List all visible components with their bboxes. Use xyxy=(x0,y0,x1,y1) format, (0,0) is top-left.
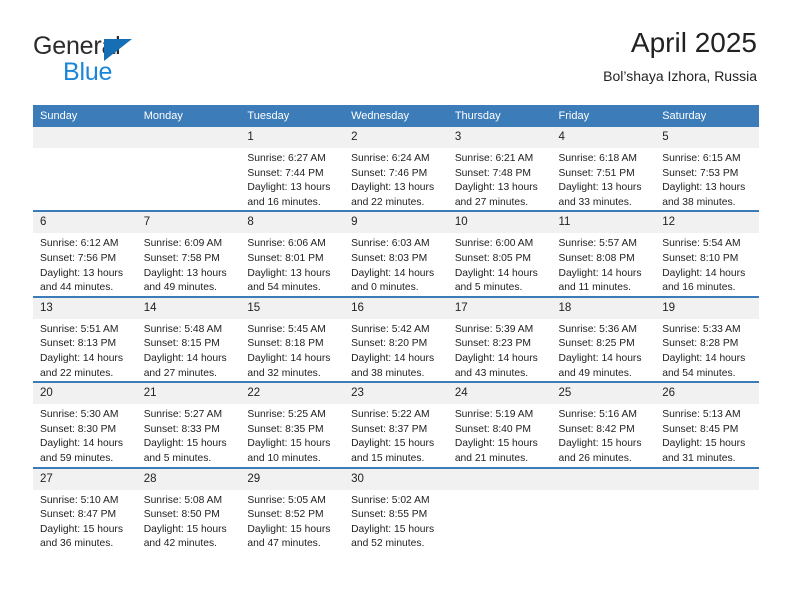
sunrise-text: Sunrise: 6:06 AM xyxy=(247,237,338,252)
sunrise-text: Sunrise: 5:51 AM xyxy=(40,323,131,338)
sunset-text: Sunset: 8:03 PM xyxy=(351,252,442,267)
day-number: 13 xyxy=(33,298,137,319)
calendar-day-cell[interactable]: 14Sunrise: 5:48 AMSunset: 8:15 PMDayligh… xyxy=(137,297,241,382)
day-details: Sunrise: 6:12 AMSunset: 7:56 PMDaylight:… xyxy=(33,233,137,295)
weekday-header-row: Sunday Monday Tuesday Wednesday Thursday… xyxy=(33,105,759,127)
sunset-text: Sunset: 8:20 PM xyxy=(351,337,442,352)
calendar-grid: Sunday Monday Tuesday Wednesday Thursday… xyxy=(33,105,759,552)
day-details: Sunrise: 6:15 AMSunset: 7:53 PMDaylight:… xyxy=(655,148,759,210)
weekday-header-saturday: Saturday xyxy=(655,105,759,127)
page-header: General Blue April 2025 Bol’shaya Izhora… xyxy=(0,0,792,100)
day-details: Sunrise: 5:19 AMSunset: 8:40 PMDaylight:… xyxy=(448,404,552,466)
daylight-text: Daylight: 14 hours and 32 minutes. xyxy=(247,352,338,381)
daylight-text: Daylight: 14 hours and 27 minutes. xyxy=(144,352,235,381)
day-details: Sunrise: 5:57 AMSunset: 8:08 PMDaylight:… xyxy=(552,233,656,295)
sunrise-text: Sunrise: 5:27 AM xyxy=(144,408,235,423)
calendar-day-cell-empty xyxy=(655,468,759,552)
sunset-text: Sunset: 8:50 PM xyxy=(144,508,235,523)
daylight-text: Daylight: 15 hours and 31 minutes. xyxy=(662,437,753,466)
calendar-day-cell[interactable]: 22Sunrise: 5:25 AMSunset: 8:35 PMDayligh… xyxy=(240,382,344,467)
day-number: 26 xyxy=(655,383,759,404)
sunset-text: Sunset: 7:51 PM xyxy=(559,167,650,182)
sunrise-text: Sunrise: 6:18 AM xyxy=(559,152,650,167)
calendar-day-cell[interactable]: 28Sunrise: 5:08 AMSunset: 8:50 PMDayligh… xyxy=(137,468,241,552)
calendar-day-cell-empty xyxy=(137,127,241,211)
day-details: Sunrise: 5:39 AMSunset: 8:23 PMDaylight:… xyxy=(448,319,552,381)
calendar-day-cell[interactable]: 8Sunrise: 6:06 AMSunset: 8:01 PMDaylight… xyxy=(240,211,344,296)
daylight-text: Daylight: 14 hours and 38 minutes. xyxy=(351,352,442,381)
calendar-day-cell[interactable]: 7Sunrise: 6:09 AMSunset: 7:58 PMDaylight… xyxy=(137,211,241,296)
day-number: 19 xyxy=(655,298,759,319)
day-number: 7 xyxy=(137,212,241,233)
sunset-text: Sunset: 8:47 PM xyxy=(40,508,131,523)
daylight-text: Daylight: 14 hours and 59 minutes. xyxy=(40,437,131,466)
day-number: 22 xyxy=(240,383,344,404)
sunset-text: Sunset: 8:35 PM xyxy=(247,423,338,438)
calendar-day-cell[interactable]: 3Sunrise: 6:21 AMSunset: 7:48 PMDaylight… xyxy=(448,127,552,211)
sunset-text: Sunset: 8:18 PM xyxy=(247,337,338,352)
calendar-day-cell[interactable]: 19Sunrise: 5:33 AMSunset: 8:28 PMDayligh… xyxy=(655,297,759,382)
sunset-text: Sunset: 8:30 PM xyxy=(40,423,131,438)
day-details: Sunrise: 6:24 AMSunset: 7:46 PMDaylight:… xyxy=(344,148,448,210)
sunrise-text: Sunrise: 5:42 AM xyxy=(351,323,442,338)
calendar-day-cell[interactable]: 1Sunrise: 6:27 AMSunset: 7:44 PMDaylight… xyxy=(240,127,344,211)
day-number: 3 xyxy=(448,127,552,148)
sunrise-text: Sunrise: 5:08 AM xyxy=(144,494,235,509)
day-number: 17 xyxy=(448,298,552,319)
weekday-header-thursday: Thursday xyxy=(448,105,552,127)
sunrise-text: Sunrise: 5:16 AM xyxy=(559,408,650,423)
sunset-text: Sunset: 8:55 PM xyxy=(351,508,442,523)
day-details: Sunrise: 5:42 AMSunset: 8:20 PMDaylight:… xyxy=(344,319,448,381)
sunrise-text: Sunrise: 5:36 AM xyxy=(559,323,650,338)
sunset-text: Sunset: 8:45 PM xyxy=(662,423,753,438)
sunrise-text: Sunrise: 5:45 AM xyxy=(247,323,338,338)
daylight-text: Daylight: 14 hours and 43 minutes. xyxy=(455,352,546,381)
daylight-text: Daylight: 15 hours and 26 minutes. xyxy=(559,437,650,466)
calendar-day-cell[interactable]: 25Sunrise: 5:16 AMSunset: 8:42 PMDayligh… xyxy=(552,382,656,467)
sunrise-text: Sunrise: 6:09 AM xyxy=(144,237,235,252)
sunrise-text: Sunrise: 6:21 AM xyxy=(455,152,546,167)
calendar-day-cell[interactable]: 6Sunrise: 6:12 AMSunset: 7:56 PMDaylight… xyxy=(33,211,137,296)
calendar-day-cell-empty xyxy=(448,468,552,552)
sunrise-text: Sunrise: 5:13 AM xyxy=(662,408,753,423)
day-number: 27 xyxy=(33,469,137,490)
day-details: Sunrise: 5:22 AMSunset: 8:37 PMDaylight:… xyxy=(344,404,448,466)
sunset-text: Sunset: 8:10 PM xyxy=(662,252,753,267)
weekday-header-tuesday: Tuesday xyxy=(240,105,344,127)
daylight-text: Daylight: 15 hours and 10 minutes. xyxy=(247,437,338,466)
day-number xyxy=(448,469,552,490)
calendar-week-row: 13Sunrise: 5:51 AMSunset: 8:13 PMDayligh… xyxy=(33,297,759,382)
day-details: Sunrise: 6:27 AMSunset: 7:44 PMDaylight:… xyxy=(240,148,344,210)
calendar-day-cell[interactable]: 21Sunrise: 5:27 AMSunset: 8:33 PMDayligh… xyxy=(137,382,241,467)
daylight-text: Daylight: 14 hours and 54 minutes. xyxy=(662,352,753,381)
day-number: 15 xyxy=(240,298,344,319)
calendar-day-cell[interactable]: 24Sunrise: 5:19 AMSunset: 8:40 PMDayligh… xyxy=(448,382,552,467)
day-number: 29 xyxy=(240,469,344,490)
day-details: Sunrise: 5:25 AMSunset: 8:35 PMDaylight:… xyxy=(240,404,344,466)
day-details: Sunrise: 5:45 AMSunset: 8:18 PMDaylight:… xyxy=(240,319,344,381)
sunset-text: Sunset: 7:48 PM xyxy=(455,167,546,182)
calendar-day-cell[interactable]: 15Sunrise: 5:45 AMSunset: 8:18 PMDayligh… xyxy=(240,297,344,382)
sunset-text: Sunset: 8:15 PM xyxy=(144,337,235,352)
day-number: 16 xyxy=(344,298,448,319)
calendar-week-row: 6Sunrise: 6:12 AMSunset: 7:56 PMDaylight… xyxy=(33,211,759,296)
daylight-text: Daylight: 14 hours and 0 minutes. xyxy=(351,267,442,296)
calendar-day-cell[interactable]: 18Sunrise: 5:36 AMSunset: 8:25 PMDayligh… xyxy=(552,297,656,382)
calendar-day-cell[interactable]: 10Sunrise: 6:00 AMSunset: 8:05 PMDayligh… xyxy=(448,211,552,296)
day-details: Sunrise: 5:27 AMSunset: 8:33 PMDaylight:… xyxy=(137,404,241,466)
daylight-text: Daylight: 15 hours and 5 minutes. xyxy=(144,437,235,466)
daylight-text: Daylight: 13 hours and 49 minutes. xyxy=(144,267,235,296)
day-number xyxy=(33,127,137,148)
calendar-day-cell[interactable]: 4Sunrise: 6:18 AMSunset: 7:51 PMDaylight… xyxy=(552,127,656,211)
sunset-text: Sunset: 8:25 PM xyxy=(559,337,650,352)
day-details: Sunrise: 5:36 AMSunset: 8:25 PMDaylight:… xyxy=(552,319,656,381)
day-details: Sunrise: 6:21 AMSunset: 7:48 PMDaylight:… xyxy=(448,148,552,210)
sunset-text: Sunset: 8:05 PM xyxy=(455,252,546,267)
sunset-text: Sunset: 8:13 PM xyxy=(40,337,131,352)
sunset-text: Sunset: 8:28 PM xyxy=(662,337,753,352)
sunrise-text: Sunrise: 5:54 AM xyxy=(662,237,753,252)
day-details: Sunrise: 6:03 AMSunset: 8:03 PMDaylight:… xyxy=(344,233,448,295)
daylight-text: Daylight: 13 hours and 33 minutes. xyxy=(559,181,650,210)
calendar-day-cell[interactable]: 2Sunrise: 6:24 AMSunset: 7:46 PMDaylight… xyxy=(344,127,448,211)
daylight-text: Daylight: 15 hours and 21 minutes. xyxy=(455,437,546,466)
sunset-text: Sunset: 8:37 PM xyxy=(351,423,442,438)
page-subtitle: Bol’shaya Izhora, Russia xyxy=(603,66,757,86)
sunset-text: Sunset: 7:44 PM xyxy=(247,167,338,182)
sunset-text: Sunset: 8:08 PM xyxy=(559,252,650,267)
day-details: Sunrise: 5:54 AMSunset: 8:10 PMDaylight:… xyxy=(655,233,759,295)
day-number: 24 xyxy=(448,383,552,404)
day-details: Sunrise: 5:48 AMSunset: 8:15 PMDaylight:… xyxy=(137,319,241,381)
sunrise-text: Sunrise: 5:33 AM xyxy=(662,323,753,338)
calendar-day-cell[interactable]: 29Sunrise: 5:05 AMSunset: 8:52 PMDayligh… xyxy=(240,468,344,552)
day-details: Sunrise: 6:06 AMSunset: 8:01 PMDaylight:… xyxy=(240,233,344,295)
day-number: 30 xyxy=(344,469,448,490)
daylight-text: Daylight: 14 hours and 49 minutes. xyxy=(559,352,650,381)
daylight-text: Daylight: 13 hours and 54 minutes. xyxy=(247,267,338,296)
sunrise-text: Sunrise: 5:05 AM xyxy=(247,494,338,509)
day-number: 2 xyxy=(344,127,448,148)
sunrise-text: Sunrise: 5:19 AM xyxy=(455,408,546,423)
calendar-day-cell[interactable]: 11Sunrise: 5:57 AMSunset: 8:08 PMDayligh… xyxy=(552,211,656,296)
daylight-text: Daylight: 15 hours and 36 minutes. xyxy=(40,523,131,552)
daylight-text: Daylight: 14 hours and 22 minutes. xyxy=(40,352,131,381)
day-details: Sunrise: 5:13 AMSunset: 8:45 PMDaylight:… xyxy=(655,404,759,466)
sunrise-text: Sunrise: 5:39 AM xyxy=(455,323,546,338)
day-number: 23 xyxy=(344,383,448,404)
day-number xyxy=(552,469,656,490)
calendar-day-cell[interactable]: 17Sunrise: 5:39 AMSunset: 8:23 PMDayligh… xyxy=(448,297,552,382)
day-number: 4 xyxy=(552,127,656,148)
calendar-day-cell[interactable]: 16Sunrise: 5:42 AMSunset: 8:20 PMDayligh… xyxy=(344,297,448,382)
day-number: 9 xyxy=(344,212,448,233)
page-title: April 2025 xyxy=(603,26,757,60)
calendar-week-row: 1Sunrise: 6:27 AMSunset: 7:44 PMDaylight… xyxy=(33,127,759,211)
sunrise-text: Sunrise: 5:57 AM xyxy=(559,237,650,252)
calendar-day-cell-empty xyxy=(552,468,656,552)
day-details: Sunrise: 6:18 AMSunset: 7:51 PMDaylight:… xyxy=(552,148,656,210)
calendar-day-cell[interactable]: 20Sunrise: 5:30 AMSunset: 8:30 PMDayligh… xyxy=(33,382,137,467)
day-details: Sunrise: 5:33 AMSunset: 8:28 PMDaylight:… xyxy=(655,319,759,381)
calendar-day-cell[interactable]: 5Sunrise: 6:15 AMSunset: 7:53 PMDaylight… xyxy=(655,127,759,211)
day-number xyxy=(137,127,241,148)
day-number: 20 xyxy=(33,383,137,404)
calendar-day-cell-empty xyxy=(33,127,137,211)
sunrise-text: Sunrise: 6:03 AM xyxy=(351,237,442,252)
day-details: Sunrise: 5:51 AMSunset: 8:13 PMDaylight:… xyxy=(33,319,137,381)
sunrise-text: Sunrise: 5:48 AM xyxy=(144,323,235,338)
day-number: 8 xyxy=(240,212,344,233)
calendar-body: 1Sunrise: 6:27 AMSunset: 7:44 PMDaylight… xyxy=(33,127,759,552)
daylight-text: Daylight: 15 hours and 42 minutes. xyxy=(144,523,235,552)
calendar-day-cell[interactable]: 12Sunrise: 5:54 AMSunset: 8:10 PMDayligh… xyxy=(655,211,759,296)
day-details: Sunrise: 5:10 AMSunset: 8:47 PMDaylight:… xyxy=(33,490,137,552)
logo-text-blue: Blue xyxy=(63,58,112,87)
sunset-text: Sunset: 8:01 PM xyxy=(247,252,338,267)
daylight-text: Daylight: 13 hours and 38 minutes. xyxy=(662,181,753,210)
day-number: 18 xyxy=(552,298,656,319)
daylight-text: Daylight: 15 hours and 15 minutes. xyxy=(351,437,442,466)
day-number: 21 xyxy=(137,383,241,404)
sunset-text: Sunset: 7:56 PM xyxy=(40,252,131,267)
day-number: 6 xyxy=(33,212,137,233)
calendar-page: General Blue April 2025 Bol’shaya Izhora… xyxy=(0,0,792,612)
sunset-text: Sunset: 8:23 PM xyxy=(455,337,546,352)
day-number: 12 xyxy=(655,212,759,233)
sunrise-text: Sunrise: 6:15 AM xyxy=(662,152,753,167)
sunrise-text: Sunrise: 6:12 AM xyxy=(40,237,131,252)
day-details: Sunrise: 5:05 AMSunset: 8:52 PMDaylight:… xyxy=(240,490,344,552)
daylight-text: Daylight: 13 hours and 44 minutes. xyxy=(40,267,131,296)
day-number xyxy=(655,469,759,490)
sunset-text: Sunset: 7:53 PM xyxy=(662,167,753,182)
day-details: Sunrise: 5:08 AMSunset: 8:50 PMDaylight:… xyxy=(137,490,241,552)
sunset-text: Sunset: 7:58 PM xyxy=(144,252,235,267)
sunset-text: Sunset: 8:52 PM xyxy=(247,508,338,523)
weekday-header-wednesday: Wednesday xyxy=(344,105,448,127)
sunrise-text: Sunrise: 5:25 AM xyxy=(247,408,338,423)
weekday-header-monday: Monday xyxy=(137,105,241,127)
sunrise-text: Sunrise: 5:02 AM xyxy=(351,494,442,509)
sunrise-text: Sunrise: 5:30 AM xyxy=(40,408,131,423)
sunset-text: Sunset: 8:33 PM xyxy=(144,423,235,438)
title-block: April 2025 Bol’shaya Izhora, Russia xyxy=(603,26,757,86)
day-number: 1 xyxy=(240,127,344,148)
daylight-text: Daylight: 13 hours and 22 minutes. xyxy=(351,181,442,210)
calendar-day-cell[interactable]: 26Sunrise: 5:13 AMSunset: 8:45 PMDayligh… xyxy=(655,382,759,467)
day-details: Sunrise: 5:30 AMSunset: 8:30 PMDaylight:… xyxy=(33,404,137,466)
sunrise-text: Sunrise: 5:22 AM xyxy=(351,408,442,423)
day-details: Sunrise: 5:02 AMSunset: 8:55 PMDaylight:… xyxy=(344,490,448,552)
calendar-day-cell[interactable]: 23Sunrise: 5:22 AMSunset: 8:37 PMDayligh… xyxy=(344,382,448,467)
sunset-text: Sunset: 7:46 PM xyxy=(351,167,442,182)
calendar-day-cell[interactable]: 30Sunrise: 5:02 AMSunset: 8:55 PMDayligh… xyxy=(344,468,448,552)
day-number: 25 xyxy=(552,383,656,404)
daylight-text: Daylight: 14 hours and 11 minutes. xyxy=(559,267,650,296)
sunrise-text: Sunrise: 6:27 AM xyxy=(247,152,338,167)
day-number: 28 xyxy=(137,469,241,490)
daylight-text: Daylight: 15 hours and 52 minutes. xyxy=(351,523,442,552)
sunrise-text: Sunrise: 6:00 AM xyxy=(455,237,546,252)
calendar-day-cell[interactable]: 13Sunrise: 5:51 AMSunset: 8:13 PMDayligh… xyxy=(33,297,137,382)
sunrise-text: Sunrise: 5:10 AM xyxy=(40,494,131,509)
day-number: 11 xyxy=(552,212,656,233)
sunset-text: Sunset: 8:40 PM xyxy=(455,423,546,438)
day-number: 14 xyxy=(137,298,241,319)
weekday-header-sunday: Sunday xyxy=(33,105,137,127)
day-details: Sunrise: 5:16 AMSunset: 8:42 PMDaylight:… xyxy=(552,404,656,466)
day-number: 5 xyxy=(655,127,759,148)
weekday-header-friday: Friday xyxy=(552,105,656,127)
daylight-text: Daylight: 14 hours and 16 minutes. xyxy=(662,267,753,296)
calendar-week-row: 27Sunrise: 5:10 AMSunset: 8:47 PMDayligh… xyxy=(33,468,759,552)
sunset-text: Sunset: 8:42 PM xyxy=(559,423,650,438)
calendar-week-row: 20Sunrise: 5:30 AMSunset: 8:30 PMDayligh… xyxy=(33,382,759,467)
daylight-text: Daylight: 13 hours and 27 minutes. xyxy=(455,181,546,210)
daylight-text: Daylight: 14 hours and 5 minutes. xyxy=(455,267,546,296)
calendar-day-cell[interactable]: 9Sunrise: 6:03 AMSunset: 8:03 PMDaylight… xyxy=(344,211,448,296)
generalblue-logo: General Blue xyxy=(33,32,233,87)
day-details: Sunrise: 6:09 AMSunset: 7:58 PMDaylight:… xyxy=(137,233,241,295)
calendar-day-cell[interactable]: 27Sunrise: 5:10 AMSunset: 8:47 PMDayligh… xyxy=(33,468,137,552)
day-number: 10 xyxy=(448,212,552,233)
daylight-text: Daylight: 13 hours and 16 minutes. xyxy=(247,181,338,210)
day-details: Sunrise: 6:00 AMSunset: 8:05 PMDaylight:… xyxy=(448,233,552,295)
sunrise-text: Sunrise: 6:24 AM xyxy=(351,152,442,167)
daylight-text: Daylight: 15 hours and 47 minutes. xyxy=(247,523,338,552)
